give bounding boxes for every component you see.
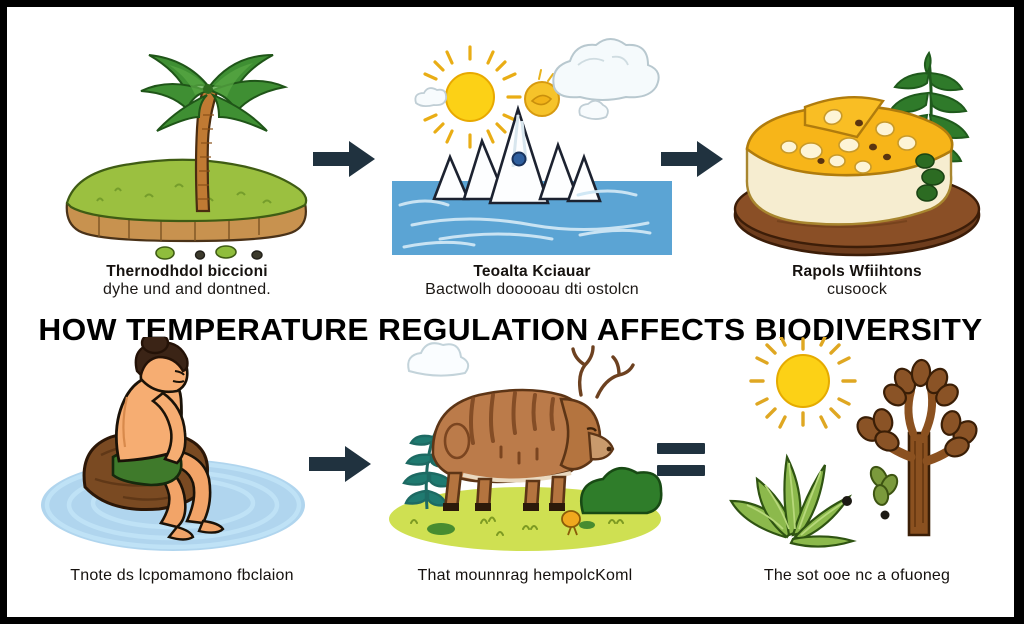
caption-plants: The sot ooe nc a ofuoneg <box>707 567 1007 585</box>
image-border: Thernodhdol biccioni dyhe und and dontne… <box>0 0 1024 624</box>
caption-iceberg-line1: Teoalta Kciauar <box>382 263 682 281</box>
deer-grazing-icon <box>375 337 675 557</box>
caption-cheese-line2: cusoock <box>707 281 1007 299</box>
cheese-wheel-board-icon <box>707 29 1007 265</box>
caption-plants-line1: The sot ooe nc a ofuoneg <box>707 567 1007 585</box>
hair-bun <box>142 337 168 353</box>
tree-icon <box>853 359 981 535</box>
person-sitting-on-rock-icon <box>27 337 327 557</box>
panel-deer <box>375 337 675 557</box>
caption-deer: That mounnrag hempolcKoml <box>375 567 675 585</box>
equals-sign-icon <box>657 443 705 476</box>
palm-tree-island-icon <box>37 25 337 265</box>
seed-dot-2 <box>881 511 890 520</box>
panel-island <box>37 25 337 265</box>
caption-island-line1: Thernodhdol biccioni <box>37 263 337 281</box>
caption-iceberg: Teoalta Kciauar Bactwolh dooooau dti ost… <box>382 263 682 299</box>
infographic-canvas: Thernodhdol biccioni dyhe und and dontne… <box>7 7 1014 617</box>
cloud-icon-small-right <box>579 101 608 119</box>
arrow-right-icon-1 <box>311 138 377 180</box>
sun-icon <box>751 337 855 427</box>
panel-person <box>27 337 327 557</box>
arrow-right-icon-3 <box>307 443 373 485</box>
caption-island-line2: dyhe und and dontned. <box>37 281 337 299</box>
bush-icon <box>581 468 661 513</box>
cloud-icon <box>408 343 468 375</box>
antlers <box>573 347 633 397</box>
caption-person-line1: Tnote ds lcpomamono fbclaion <box>27 567 337 585</box>
caption-cheese: Rapols Wfiihtons cusoock <box>707 263 1007 299</box>
caption-person: Tnote ds lcpomamono fbclaion <box>27 567 337 585</box>
caption-deer-line1: That mounnrag hempolcKoml <box>375 567 675 585</box>
panel-cheese <box>707 29 1007 265</box>
small-leaves <box>867 464 900 506</box>
grass-plant-icon <box>731 457 853 547</box>
panel-plants <box>707 337 1007 557</box>
caption-cheese-line1: Rapols Wfiihtons <box>707 263 1007 281</box>
cloud-icon-small-left <box>415 88 446 106</box>
sun-grass-tree-icon <box>707 337 1007 557</box>
panel-iceberg <box>382 29 682 265</box>
cloud-icon-large <box>553 39 658 100</box>
caption-island: Thernodhdol biccioni dyhe und and dontne… <box>37 263 337 299</box>
iceberg-ocean-sun-icon <box>382 29 682 265</box>
caption-iceberg-line2: Bactwolh dooooau dti ostolcn <box>382 281 682 299</box>
seed-dot-1 <box>842 496 852 506</box>
